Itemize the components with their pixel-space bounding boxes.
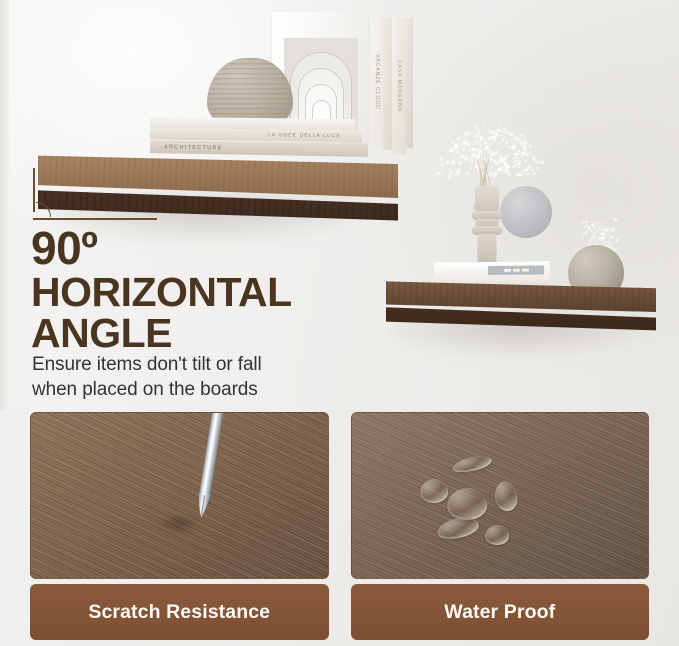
flower-bud xyxy=(598,226,600,228)
page-headline: 90º HORIZONTAL ANGLE xyxy=(31,226,292,354)
flower-bud xyxy=(513,150,514,151)
flower-bud xyxy=(508,154,510,156)
flower-bud xyxy=(616,239,618,241)
flower-bud xyxy=(484,142,486,144)
feature-scratch-resistance: Scratch Resistance xyxy=(30,412,329,646)
flower-bud xyxy=(480,141,482,143)
vertical-book-4 xyxy=(406,18,413,148)
vertical-book-spine-label: VACANZE CLOUD xyxy=(374,54,380,109)
angle-marker-90-degree xyxy=(33,168,163,220)
flower-bud xyxy=(504,157,507,160)
flower-bud xyxy=(514,160,516,162)
flower-bud xyxy=(450,149,453,152)
flower-bud xyxy=(510,133,512,135)
flower-bud xyxy=(460,143,462,145)
flower-bud xyxy=(588,228,589,229)
vertical-book-3: CASA MODERNA xyxy=(392,18,406,154)
flower-bud xyxy=(466,172,469,175)
water-proof-photo xyxy=(351,412,650,579)
flower-bud xyxy=(601,225,602,226)
flower-bud xyxy=(463,135,465,137)
angle-horizontal-line xyxy=(33,218,157,220)
water-droplet xyxy=(493,480,519,513)
flower-bud xyxy=(503,128,505,130)
water-droplet xyxy=(435,514,481,544)
flower-bud xyxy=(457,171,460,174)
water-proof-label: Water Proof xyxy=(444,601,555,624)
product-infographic: VACANZE CLOUD CASA MODERNA LA VOCE DELLA… xyxy=(0,0,679,646)
flower-bud xyxy=(441,161,443,163)
flower-bud xyxy=(437,167,438,168)
flower-bud xyxy=(590,241,592,243)
flower-bud xyxy=(599,229,601,231)
flower-bud xyxy=(533,173,535,175)
flower-bud xyxy=(459,168,460,169)
flower-bud xyxy=(507,131,510,134)
page-subheadline: Ensure items don't tilt or fall when pla… xyxy=(32,352,262,402)
flower-bud xyxy=(598,237,600,239)
flower-bud xyxy=(513,166,514,167)
flower-bud xyxy=(583,234,585,236)
flower-bud xyxy=(532,169,534,171)
flower-bud xyxy=(485,139,487,141)
flower-bud xyxy=(584,242,585,243)
water-droplet xyxy=(418,477,450,505)
flower-bud xyxy=(455,173,457,175)
flower-bud xyxy=(614,219,616,221)
flower-bud xyxy=(503,161,505,163)
flower-bud xyxy=(521,156,523,158)
flower-bud xyxy=(508,173,510,175)
flower-bud xyxy=(587,218,588,219)
pedestal-column xyxy=(478,234,497,264)
flower-bud xyxy=(451,141,454,144)
water-proof-banner: Water Proof xyxy=(351,584,650,640)
headline-line-1: 90º xyxy=(31,226,292,271)
flower-bud xyxy=(590,229,592,231)
flower-bud xyxy=(604,242,606,244)
flower-bud xyxy=(468,132,470,134)
flower-bud xyxy=(614,249,615,250)
flower-bud xyxy=(513,157,515,159)
lower-white-book xyxy=(434,261,550,279)
screwdriver-icon xyxy=(188,412,231,523)
flower-bud xyxy=(436,173,438,175)
scratch-resistance-photo xyxy=(30,412,329,579)
pedestal-neck xyxy=(475,186,499,212)
flower-bud xyxy=(603,233,605,235)
flower-bud xyxy=(476,134,479,137)
flower-bud xyxy=(494,138,496,140)
flower-bud xyxy=(477,127,478,128)
flower-bud xyxy=(478,149,481,152)
flower-bud xyxy=(474,137,476,139)
water-droplet xyxy=(450,453,492,476)
flower-bud xyxy=(478,143,479,144)
flower-bud xyxy=(496,131,497,132)
flower-bud xyxy=(452,161,454,163)
flower-bud xyxy=(508,146,511,149)
flower-bud xyxy=(603,222,604,223)
flower-bud xyxy=(541,161,544,164)
flower-bud xyxy=(441,164,443,166)
feature-panels: Scratch Resistance Water Proof xyxy=(0,412,679,646)
angle-arc-icon xyxy=(36,202,51,217)
flower-bud xyxy=(593,228,594,229)
flower-bud xyxy=(533,156,535,158)
flower-bud xyxy=(602,243,603,244)
flower-bud xyxy=(529,145,531,147)
flower-bud xyxy=(508,168,509,169)
flower-bud xyxy=(596,230,598,232)
flower-bud xyxy=(489,170,490,171)
angle-vertical-line xyxy=(33,168,35,212)
flower-bud xyxy=(520,134,523,137)
flower-bud xyxy=(488,150,491,153)
flower-bud xyxy=(530,151,532,153)
flower-bud xyxy=(502,139,504,141)
flower-bud xyxy=(607,235,608,236)
flower-bud xyxy=(475,148,477,150)
flower-bud xyxy=(471,159,474,162)
flower-bud xyxy=(457,138,459,140)
flower-bud xyxy=(526,153,529,156)
book-label-strip xyxy=(488,265,544,275)
hero-scene: VACANZE CLOUD CASA MODERNA LA VOCE DELLA… xyxy=(0,0,679,410)
flower-bud xyxy=(514,136,516,138)
subheadline-line-1: Ensure items don't tilt or fall xyxy=(32,352,262,377)
flower-bud xyxy=(537,161,539,163)
label-tick xyxy=(512,269,519,272)
flower-bud xyxy=(493,152,496,155)
flower-bud xyxy=(498,161,500,163)
flower-bud xyxy=(506,138,507,139)
book-spine-text-1: LA VOCE DELLA LUCE xyxy=(150,131,341,140)
flower-bud xyxy=(490,143,491,144)
flower-bud xyxy=(492,131,494,133)
flower-bud xyxy=(592,236,594,238)
flower-bud xyxy=(591,221,592,222)
flower-bud xyxy=(505,170,508,173)
flower-bud xyxy=(606,229,608,231)
water-droplet xyxy=(484,524,510,546)
flower-bud xyxy=(502,141,503,142)
flower-bud xyxy=(459,162,462,165)
flower-bud xyxy=(603,229,605,231)
flower-bud xyxy=(523,145,526,148)
scratch-resistance-label: Scratch Resistance xyxy=(88,601,270,624)
vertical-book-spine-label: CASA MODERNA xyxy=(396,60,402,112)
flower-bud xyxy=(512,147,513,148)
flower-bud xyxy=(516,156,518,158)
flower-bud xyxy=(526,173,528,175)
flower-bud xyxy=(595,240,597,242)
flower-bud xyxy=(521,142,522,143)
flower-bud xyxy=(493,140,494,141)
vertical-book-2 xyxy=(383,18,392,150)
flower-bud xyxy=(473,143,475,145)
flower-bud xyxy=(472,148,474,150)
flower-bud xyxy=(498,124,500,126)
flower-bud xyxy=(453,157,455,159)
flower-bud xyxy=(600,221,601,222)
flower-bud xyxy=(610,236,612,238)
flower-bud xyxy=(460,156,462,158)
flower-bud xyxy=(465,159,467,161)
flower-bud xyxy=(455,144,457,146)
flower-bud xyxy=(582,222,583,223)
headline-line-3: ANGLE xyxy=(31,314,292,354)
flower-bud xyxy=(519,174,522,177)
subheadline-line-2: when placed on the boards xyxy=(32,377,262,402)
flower-bud xyxy=(470,167,471,168)
flower-bud xyxy=(609,231,611,233)
flower-bud xyxy=(466,142,469,145)
flower-bud xyxy=(495,176,497,178)
flower-bud xyxy=(450,170,452,172)
flower-bud xyxy=(494,162,495,163)
flower-bud xyxy=(452,166,453,167)
flower-bud xyxy=(595,222,596,223)
label-tick xyxy=(503,269,510,272)
flower-bud xyxy=(493,175,495,177)
flower-bud xyxy=(483,125,484,126)
flower-bud xyxy=(506,161,507,162)
flower-bud xyxy=(585,232,587,234)
flower-bud xyxy=(524,142,527,145)
flower-bud xyxy=(482,144,483,145)
flower-bud xyxy=(518,166,520,168)
flower-bud xyxy=(446,161,449,164)
flower-bud xyxy=(525,159,528,162)
flower-bud xyxy=(536,167,538,169)
scratch-resistance-banner: Scratch Resistance xyxy=(30,584,329,640)
flower-bud xyxy=(524,149,527,152)
flower-bud xyxy=(478,130,480,132)
flower-bud xyxy=(438,172,440,174)
flower-bud xyxy=(518,150,520,152)
flower-bud xyxy=(463,147,465,149)
flower-bud xyxy=(496,151,498,153)
headline-line-2: HORIZONTAL xyxy=(31,273,292,313)
flower-bud xyxy=(528,166,531,169)
flower-bud xyxy=(486,146,488,148)
flower-bud xyxy=(593,232,595,234)
flower-bud xyxy=(448,175,451,178)
flower-bud xyxy=(585,221,587,223)
flower-bud xyxy=(464,132,467,135)
lower-floating-shelf xyxy=(386,278,656,338)
flower-bud xyxy=(498,142,501,145)
flower-bud xyxy=(590,239,592,241)
flower-bud xyxy=(501,169,503,171)
shelf-front-edge xyxy=(386,278,656,312)
flower-bud xyxy=(441,170,442,171)
flower-bud xyxy=(494,168,495,169)
flower-bud xyxy=(611,228,613,230)
book-spine-text-2: ARCHITECTURE xyxy=(150,144,223,151)
flower-bud xyxy=(608,228,609,229)
flower-bud xyxy=(609,243,611,245)
flower-bud xyxy=(516,173,519,176)
flower-bud xyxy=(463,149,465,151)
flower-bud xyxy=(474,127,475,128)
flower-bud xyxy=(495,133,498,136)
flower-bud xyxy=(490,136,493,139)
flower-bud xyxy=(494,136,496,138)
vertical-book-1: VACANZE CLOUD xyxy=(370,18,383,146)
flower-bud xyxy=(497,161,498,162)
label-tick xyxy=(521,269,528,272)
flower-bud xyxy=(506,141,509,144)
screwdriver-shaft xyxy=(199,412,224,498)
flower-bud xyxy=(609,218,610,219)
flower-bud xyxy=(588,227,589,228)
flower-bud xyxy=(597,222,599,224)
flower-bud xyxy=(601,239,603,241)
flower-bud xyxy=(440,158,442,160)
flower-bud xyxy=(499,129,502,132)
flower-bud xyxy=(477,170,479,172)
flower-bud xyxy=(475,140,477,142)
flower-bud xyxy=(456,151,458,153)
flower-bud xyxy=(481,152,483,154)
flower-bud xyxy=(510,139,513,142)
flower-bud xyxy=(585,226,587,228)
flower-bud xyxy=(450,173,452,175)
wall-left-edge xyxy=(0,0,9,410)
flower-bud xyxy=(453,153,454,154)
feature-water-proof: Water Proof xyxy=(351,412,650,646)
flower-bud xyxy=(611,247,613,249)
flower-bud xyxy=(521,171,523,173)
